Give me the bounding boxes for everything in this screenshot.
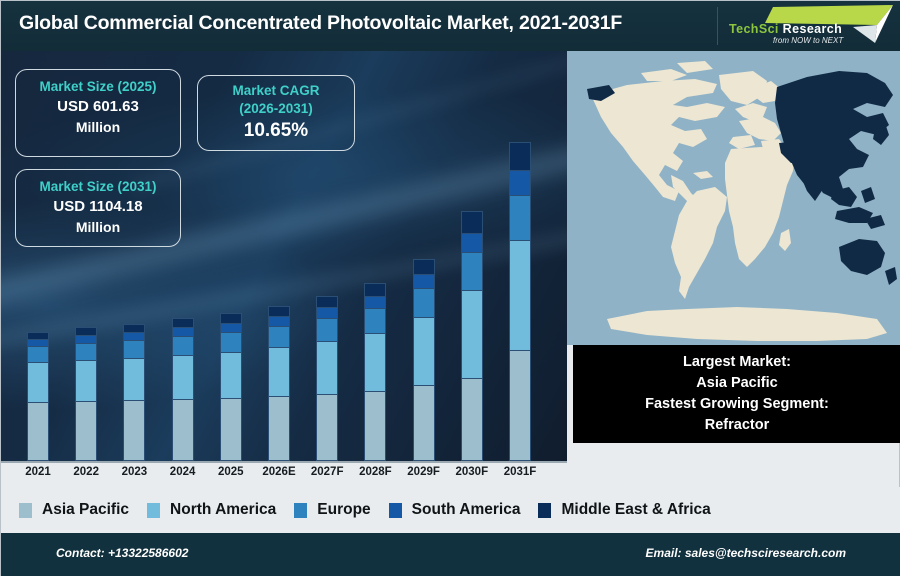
landmasses-group bbox=[587, 61, 897, 341]
madagascar-landmass bbox=[779, 229, 791, 251]
legend-swatch-europe bbox=[294, 503, 307, 518]
stat-value: 10.65% bbox=[198, 118, 354, 144]
bar-segment-south-america bbox=[123, 332, 145, 340]
legend-swatch-middle-east-africa bbox=[538, 503, 551, 518]
bar-segment-south-america bbox=[27, 339, 49, 346]
legend-item-asia-pacific[interactable]: Asia Pacific bbox=[19, 501, 129, 519]
axis-tick-2026E: 2026E bbox=[255, 466, 303, 478]
antarctica-landmass bbox=[607, 307, 887, 341]
legend-label-south-america: South America bbox=[412, 501, 521, 519]
bar-segment-middle-east-africa bbox=[461, 211, 483, 233]
header-bar: Global Commercial Concentrated Photovolt… bbox=[1, 1, 900, 51]
bar-2024 bbox=[172, 318, 194, 461]
axis-tick-2023: 2023 bbox=[110, 466, 158, 478]
bar-segment-asia-pacific bbox=[413, 385, 435, 461]
bar-segment-europe bbox=[316, 318, 338, 341]
bar-2023 bbox=[123, 324, 145, 461]
bar-segment-south-america bbox=[75, 335, 97, 343]
logo-wordmark: TechSci Research bbox=[729, 22, 842, 36]
bar-segment-asia-pacific bbox=[75, 401, 97, 461]
bar-segment-south-america bbox=[413, 274, 435, 288]
bar-segment-europe bbox=[509, 195, 531, 240]
axis-line bbox=[1, 461, 567, 463]
bar-segment-south-america bbox=[172, 327, 194, 336]
bar-segment-north-america bbox=[27, 362, 49, 402]
stat-unit: Million bbox=[16, 117, 180, 137]
legend-item-europe[interactable]: Europe bbox=[294, 501, 370, 519]
bar-segment-europe bbox=[27, 346, 49, 362]
legend-item-north-america[interactable]: North America bbox=[147, 501, 276, 519]
bar-2021 bbox=[27, 332, 49, 461]
stat-card-market-size-2025: Market Size (2025) USD 601.63 Million bbox=[15, 69, 181, 157]
stat-label: Market Size (2031) bbox=[16, 178, 180, 196]
infographic-root: Global Commercial Concentrated Photovolt… bbox=[0, 0, 900, 576]
stat-unit: Million bbox=[16, 217, 180, 237]
bar-segment-asia-pacific bbox=[123, 400, 145, 461]
callout-line-1: Largest Market: bbox=[573, 352, 900, 373]
bar-segment-north-america bbox=[364, 333, 386, 391]
callout-line-4: Refractor bbox=[573, 415, 900, 436]
bar-segment-south-america bbox=[316, 307, 338, 318]
arctic-islands bbox=[641, 69, 687, 81]
legend-label-middle-east-africa: Middle East & Africa bbox=[561, 501, 710, 519]
bar-segment-middle-east-africa bbox=[123, 324, 145, 332]
caribbean-islands bbox=[693, 171, 713, 179]
bar-segment-north-america bbox=[268, 347, 290, 396]
chart-x-axis: 202120222023202420252026E2027F2028F2029F… bbox=[1, 461, 567, 487]
bar-segment-south-america bbox=[364, 296, 386, 308]
legend-label-europe: Europe bbox=[317, 501, 370, 519]
bar-segment-north-america bbox=[509, 240, 531, 350]
bar-segment-middle-east-africa bbox=[268, 306, 290, 316]
logo-text-techsci: TechSci bbox=[729, 22, 779, 36]
footer-bar: Contact: +13322586602 Email: sales@techs… bbox=[1, 533, 900, 576]
bar-segment-middle-east-africa bbox=[172, 318, 194, 327]
bar-2025 bbox=[220, 313, 242, 461]
bar-segment-asia-pacific bbox=[364, 391, 386, 461]
bar-segment-south-america bbox=[220, 323, 242, 332]
bar-2030F bbox=[461, 211, 483, 461]
bar-segment-north-america bbox=[123, 358, 145, 400]
india-landmass-highlight bbox=[801, 161, 829, 201]
north-america-landmass bbox=[591, 79, 725, 201]
bar-2031F bbox=[509, 142, 531, 461]
stat-value: USD 601.63 bbox=[16, 96, 180, 117]
australia-highlight bbox=[839, 239, 885, 275]
legend-label-north-america: North America bbox=[170, 501, 276, 519]
bar-segment-south-america bbox=[509, 170, 531, 195]
legend-label-asia-pacific: Asia Pacific bbox=[42, 501, 129, 519]
bar-segment-middle-east-africa bbox=[220, 313, 242, 323]
bar-2027F bbox=[316, 296, 338, 461]
legend-item-south-america[interactable]: South America bbox=[389, 501, 521, 519]
world-map-svg bbox=[567, 51, 900, 345]
bar-2029F bbox=[413, 259, 435, 461]
bar-segment-north-america bbox=[461, 290, 483, 378]
bar-2022 bbox=[75, 327, 97, 461]
logo-text-research: Research bbox=[779, 22, 842, 36]
bar-segment-europe bbox=[364, 308, 386, 333]
bar-segment-asia-pacific bbox=[268, 396, 290, 461]
axis-tick-2022: 2022 bbox=[62, 466, 110, 478]
new-zealand-highlight bbox=[885, 267, 897, 285]
callout-box: Largest Market: Asia Pacific Fastest Gro… bbox=[573, 345, 900, 443]
canada-islands-2 bbox=[677, 61, 713, 73]
bar-2026E bbox=[268, 306, 290, 461]
bar-segment-europe bbox=[172, 336, 194, 355]
bar-segment-europe bbox=[75, 343, 97, 360]
bar-segment-middle-east-africa bbox=[364, 283, 386, 296]
stat-value: USD 1104.18 bbox=[16, 196, 180, 217]
bar-segment-middle-east-africa bbox=[413, 259, 435, 274]
philippines-highlight bbox=[861, 187, 875, 203]
axis-tick-2027F: 2027F bbox=[303, 466, 351, 478]
bar-segment-asia-pacific bbox=[509, 350, 531, 461]
iberia-landmass bbox=[729, 135, 755, 149]
axis-tick-2029F: 2029F bbox=[400, 466, 448, 478]
bar-segment-asia-pacific bbox=[220, 398, 242, 461]
legend-swatch-south-america bbox=[389, 503, 402, 518]
techsci-research-logo: TechSci Research from NOW to NEXT bbox=[717, 3, 895, 49]
bar-segment-middle-east-africa bbox=[316, 296, 338, 307]
axis-tick-2024: 2024 bbox=[159, 466, 207, 478]
page-title: Global Commercial Concentrated Photovolt… bbox=[19, 12, 622, 35]
legend-swatch-asia-pacific bbox=[19, 503, 32, 518]
axis-tick-2021: 2021 bbox=[14, 466, 62, 478]
bar-segment-north-america bbox=[220, 352, 242, 398]
bar-2028F bbox=[364, 283, 386, 461]
world-map bbox=[567, 51, 900, 345]
footer-email: Email: sales@techsciresearch.com bbox=[646, 546, 846, 560]
bar-segment-north-america bbox=[75, 360, 97, 401]
axis-tick-2025: 2025 bbox=[207, 466, 255, 478]
chart-legend: Asia PacificNorth AmericaEuropeSouth Ame… bbox=[1, 487, 900, 533]
bar-segment-middle-east-africa bbox=[27, 332, 49, 339]
axis-tick-2030F: 2030F bbox=[448, 466, 496, 478]
stat-card-market-size-2031: Market Size (2031) USD 1104.18 Million bbox=[15, 169, 181, 247]
logo-tagline: from NOW to NEXT bbox=[773, 36, 843, 45]
bar-segment-europe bbox=[123, 340, 145, 358]
stat-label: Market CAGR bbox=[198, 82, 354, 100]
bar-segment-europe bbox=[220, 332, 242, 352]
stat-label: Market Size (2025) bbox=[16, 78, 180, 96]
bar-segment-asia-pacific bbox=[27, 402, 49, 461]
bar-segment-europe bbox=[268, 326, 290, 347]
legend-item-middle-east-africa[interactable]: Middle East & Africa bbox=[538, 501, 710, 519]
bar-segment-asia-pacific bbox=[461, 378, 483, 461]
bar-segment-middle-east-africa bbox=[75, 327, 97, 335]
axis-tick-2028F: 2028F bbox=[351, 466, 399, 478]
bar-segment-asia-pacific bbox=[316, 394, 338, 461]
south-america-landmass bbox=[671, 187, 727, 299]
bar-segment-north-america bbox=[172, 355, 194, 399]
bar-segment-europe bbox=[413, 288, 435, 317]
bar-segment-north-america bbox=[413, 317, 435, 385]
bar-segment-north-america bbox=[316, 341, 338, 394]
bar-segment-middle-east-africa bbox=[509, 142, 531, 170]
bar-segment-south-america bbox=[268, 316, 290, 326]
bar-segment-asia-pacific bbox=[172, 399, 194, 461]
logo-divider bbox=[717, 7, 718, 45]
axis-tick-2031F: 2031F bbox=[496, 466, 544, 478]
bar-segment-south-america bbox=[461, 233, 483, 252]
bar-segment-europe bbox=[461, 252, 483, 290]
stat-card-market-cagr: Market CAGR (2026-2031) 10.65% bbox=[197, 75, 355, 151]
callout-line-2: Asia Pacific bbox=[573, 373, 900, 394]
stat-sublabel: (2026-2031) bbox=[198, 100, 354, 118]
legend-swatch-north-america bbox=[147, 503, 160, 518]
callout-line-3: Fastest Growing Segment: bbox=[573, 394, 900, 415]
footer-contact: Contact: +13322586602 bbox=[56, 546, 188, 560]
